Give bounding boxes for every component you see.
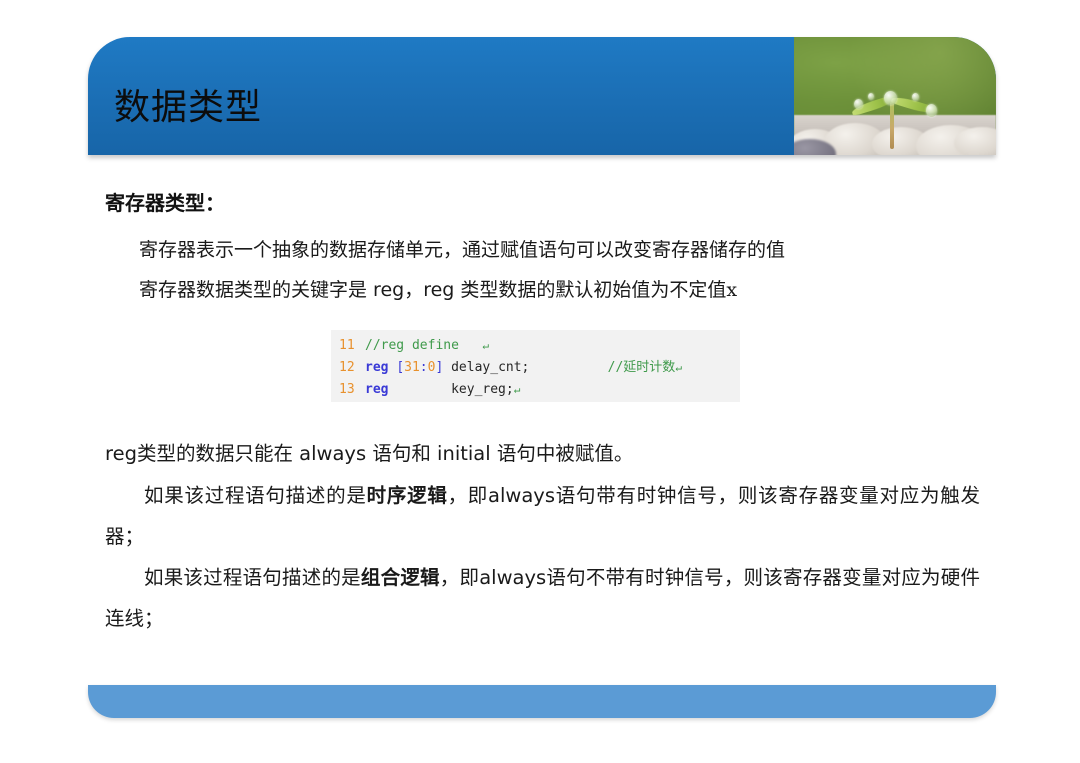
water-droplet-icon [884,91,897,105]
paragraph-1-text-2: 语句和 [366,442,437,465]
paragraph-1-text-3: 语句中被赋值。 [491,442,634,465]
paragraph-3: 如果该过程语句描述的是组合逻辑，即always语句不带有时钟信号，则该寄存器变量… [105,557,980,639]
pilcrow-icon: ↵ [514,383,521,396]
pilcrow-icon: ↵ [482,339,489,352]
footer-bar [88,685,996,718]
section-heading: 寄存器类型： [105,187,225,216]
code-line-number: 11 [339,335,365,357]
code-trailing-comment: //延时计数 [608,360,676,375]
water-droplet-icon [854,99,863,109]
paragraph-2: 如果该过程语句描述的是时序逻辑，即always语句带有时钟信号，则该寄存器变量对… [105,475,980,557]
code-line: 11//reg define ↵ [331,335,740,357]
paragraph-1-keyword-initial: initial [437,442,491,465]
title-banner: 数据类型 [88,37,996,155]
water-droplet-icon [926,104,937,117]
bullet-line-2-part3: 类型数据的默认初始值为不定值x [454,279,737,301]
paragraph-2-bold-term: 时序逻辑 [367,484,448,507]
paragraph-3-text-1: 如果该过程语句描述的是 [144,566,361,589]
paragraph-1: reg类型的数据只能在 always 语句和 initial 语句中被赋值。 [105,433,980,474]
bullet-line-1: 寄存器表示一个抽象的数据存储单元，通过赋值语句可以改变寄存器储存的值 [139,235,785,262]
code-snippet-block: 11//reg define ↵ 12reg [31:0] delay_cnt;… [331,330,740,402]
page-title: 数据类型 [114,87,262,129]
code-line-number: 12 [339,357,365,379]
code-line: 12reg [31:0] delay_cnt; //延时计数↵ [331,357,740,379]
paragraph-1-keyword: reg [105,442,137,465]
paragraph-1-keyword-always: always [299,442,366,465]
bullet-line-2-part1: 寄存器数据类型的关键字是 [139,279,373,301]
paragraph-3-keyword-always: always [479,566,546,589]
bullet-line-2-part2: ， [404,279,423,301]
paragraph-3-text-2: ，即 [440,566,479,589]
paragraph-2-text-2: ，即 [448,484,488,507]
water-droplet-icon [868,93,874,100]
water-droplet-icon [912,93,919,101]
code-identifier: key_reg; [388,382,513,397]
code-line: 13reg key_reg;↵ [331,379,740,401]
photo-background [794,37,996,124]
paragraph-2-keyword-always: always [488,484,555,507]
code-comment: //reg define [365,338,459,353]
code-msb: 31 [404,360,420,375]
paragraph-3-bold-term: 组合逻辑 [361,566,440,589]
code-bracket-open: [ [396,360,404,375]
bullet-line-2-keyword-1: reg [373,279,404,301]
code-colon: : [420,360,428,375]
paragraph-1-text-1: 类型的数据只能在 [137,442,299,465]
slide-canvas: 数据类型 寄存器类型： 寄存器表示一个抽象的数据存储单元，通过赋值语句可以改变寄… [0,0,1080,763]
pilcrow-icon: ↵ [675,361,682,374]
code-keyword: reg [365,360,388,375]
code-identifier: delay_cnt; [443,360,529,375]
bullet-line-2-keyword-2: reg [423,279,454,301]
code-line-number: 13 [339,379,365,401]
bullet-line-2: 寄存器数据类型的关键字是 reg，reg 类型数据的默认初始值为不定值x [139,275,737,302]
banner-decorative-photo [794,37,996,155]
code-keyword: reg [365,382,388,397]
paragraph-2-text-1: 如果该过程语句描述的是 [144,484,367,507]
